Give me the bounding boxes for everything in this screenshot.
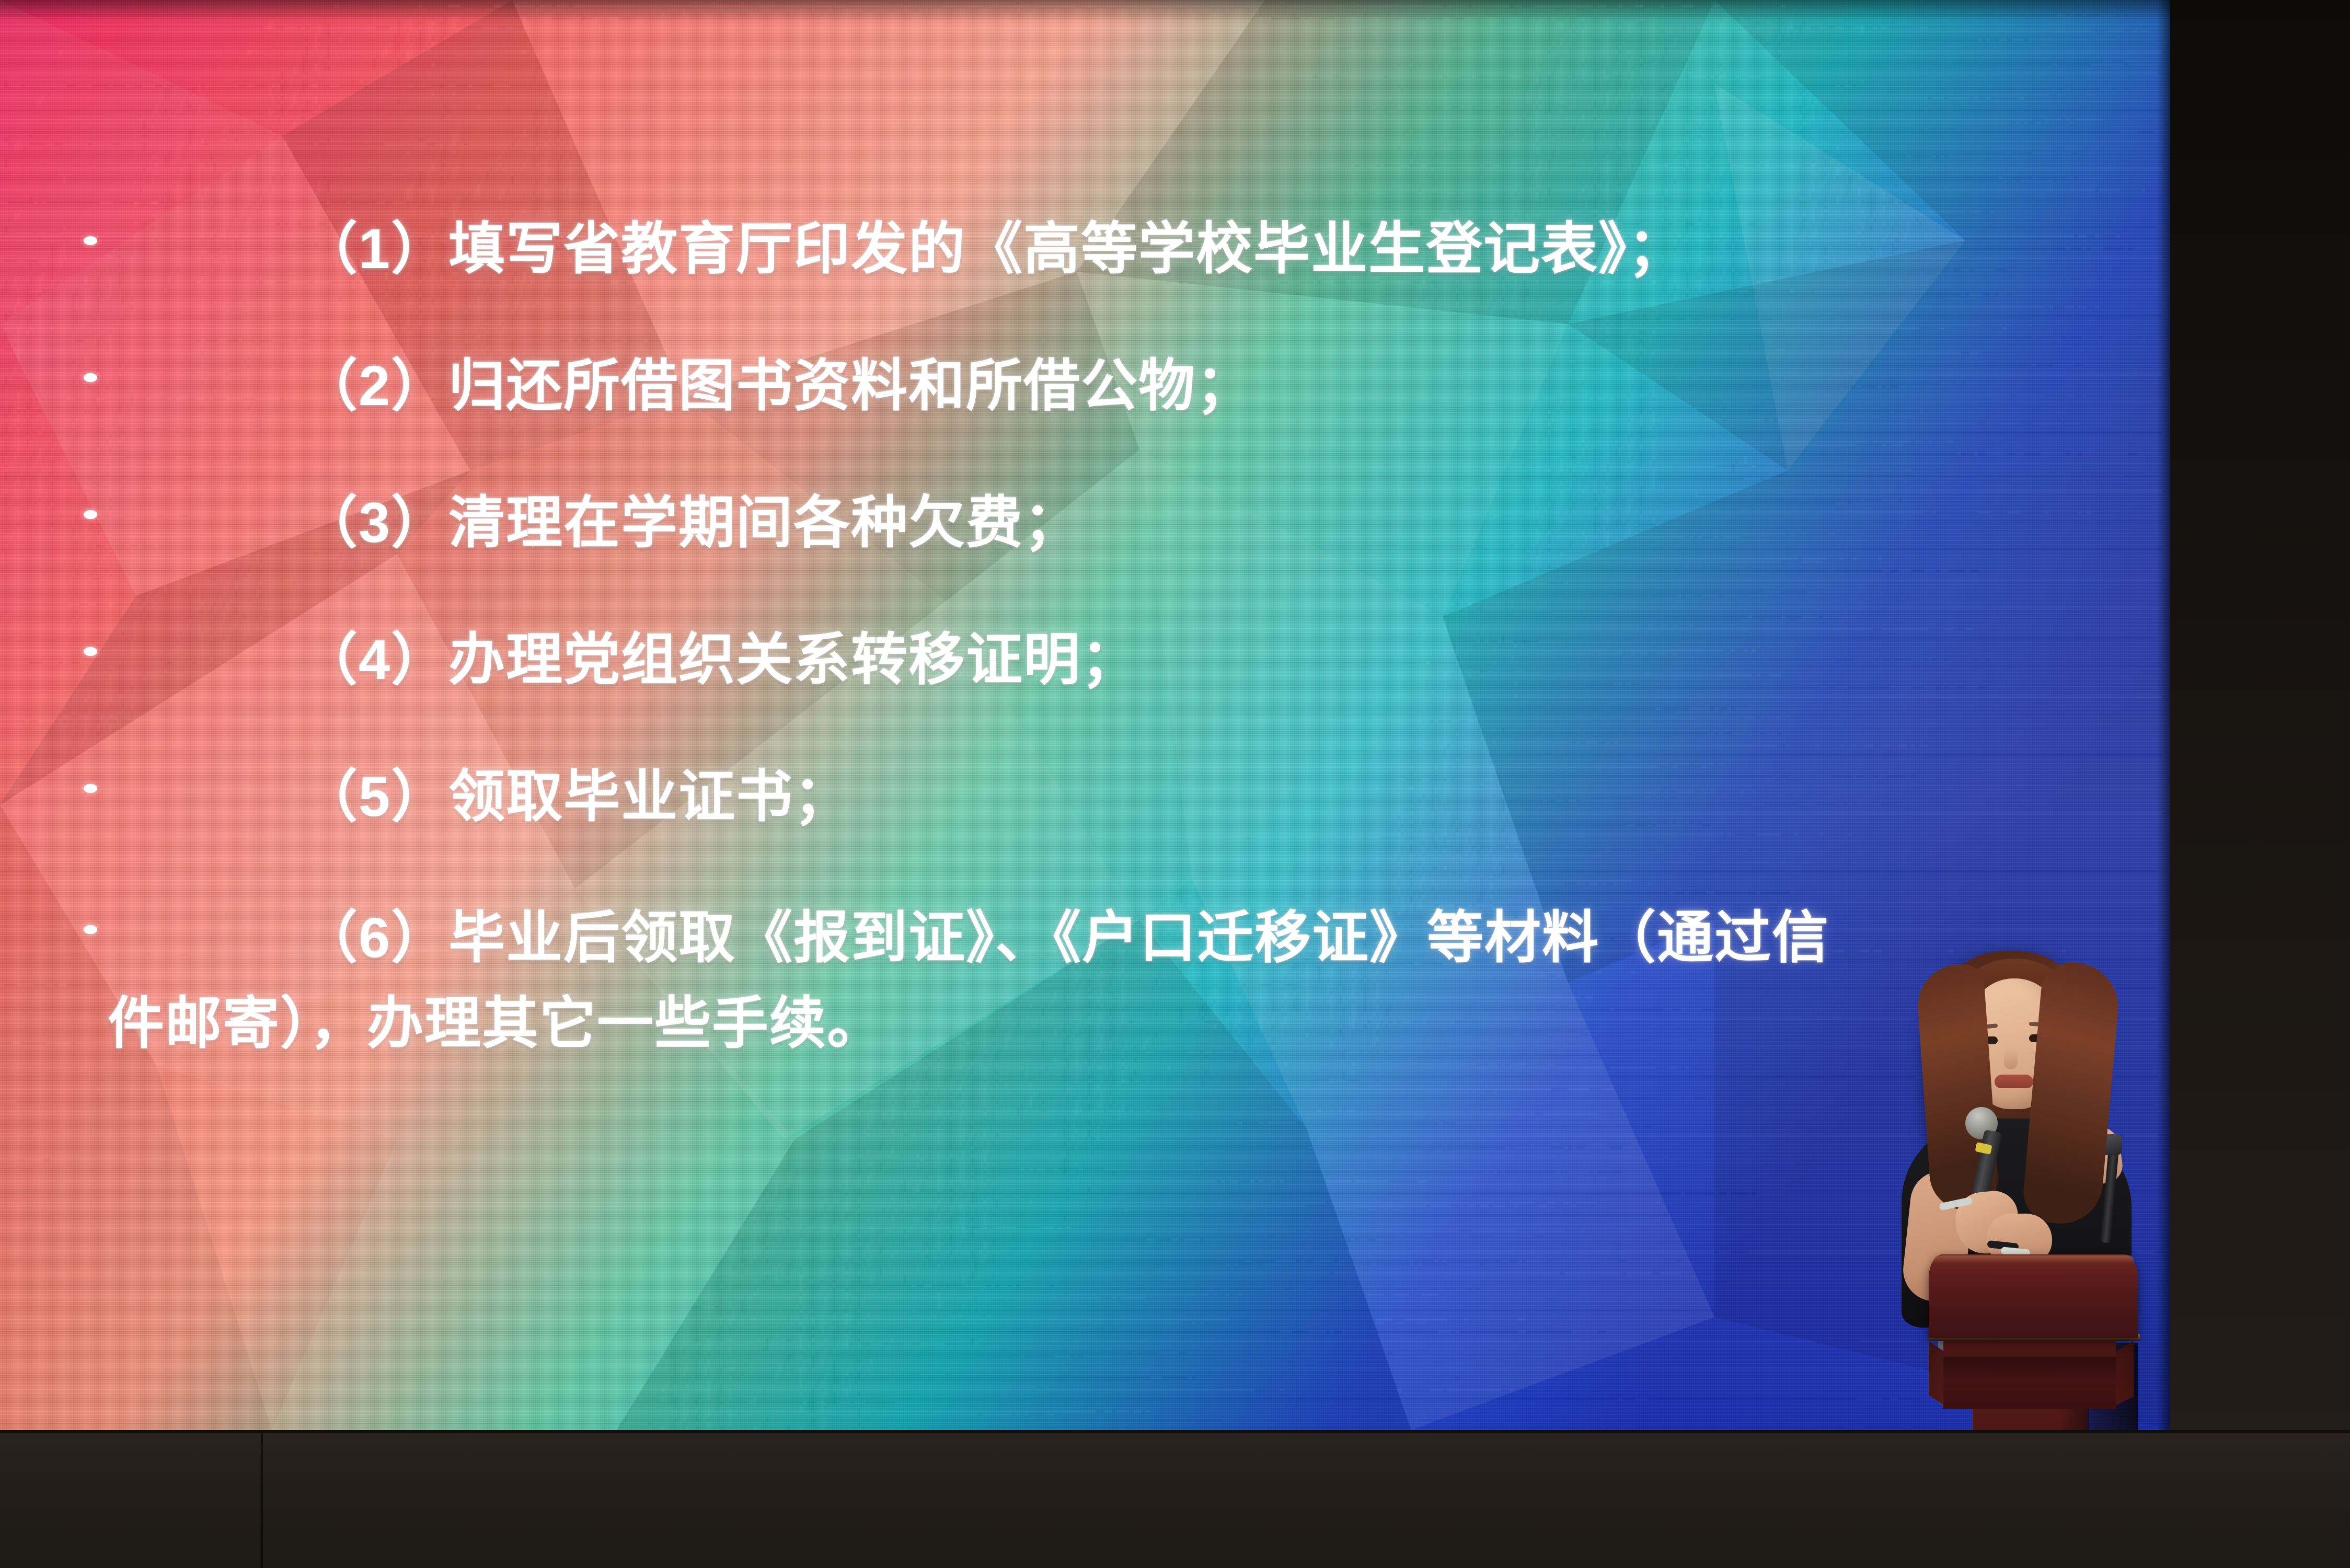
list-item: （1）填写省教育厅印发的《高等学校毕业生登记表》； — [84, 209, 1685, 289]
stage-floor — [0, 1430, 2350, 1568]
list-item: （4）办理党组织关系转移证明； — [84, 620, 1138, 699]
list-item: （2）归还所借图书资料和所借公物； — [84, 346, 1253, 425]
list-item: （3）清理在学期间各种欠费； — [84, 483, 1081, 562]
lectern-midsection-shading — [1943, 1357, 2116, 1382]
bullet-text: （5）领取毕业证书； — [301, 757, 851, 836]
photo-scene: （1）填写省教育厅印发的《高等学校毕业生登记表》； （2）归还所借图书资料和所借… — [0, 0, 2350, 1568]
bullet-text: （1）填写省教育厅印发的《高等学校毕业生登记表》； — [301, 209, 1685, 289]
lectern-top-highlight — [1932, 1255, 2135, 1264]
led-presentation-screen: （1）填写省教育厅印发的《高等学校毕业生登记表》； （2）归还所借图书资料和所借… — [0, 0, 2170, 1430]
bullet-text: （2）归还所借图书资料和所借公物； — [301, 346, 1253, 425]
stage-floor-seam — [0, 1430, 2350, 1433]
lectern-top-panel — [1929, 1254, 2138, 1338]
bullet-dot-icon — [84, 784, 97, 793]
stage-wall-right — [2169, 0, 2350, 1443]
speaker-mouth — [1995, 1075, 2033, 1088]
bullet-dot-icon — [84, 510, 97, 519]
bullet-text: （4）办理党组织关系转移证明； — [301, 620, 1138, 699]
bullet-text-line1: （6）毕业后领取《报到证》、《户口迁移证》等材料（通过信 — [301, 906, 1829, 969]
list-item: （6）毕业后领取《报到证》、《户口迁移证》等材料（通过信 件邮寄），办理其它一些… — [84, 898, 2110, 1063]
bullet-dot-icon — [84, 925, 97, 934]
bullet-text-line2: 件邮寄），办理其它一些手续。 — [108, 984, 2110, 1063]
slide-content: （1）填写省教育厅印发的《高等学校毕业生登记表》； （2）归还所借图书资料和所借… — [0, 0, 2170, 1430]
bullet-text: （3）清理在学期间各种欠费； — [301, 483, 1081, 562]
bullet-dot-icon — [84, 373, 97, 382]
stage-floor-panel-edge — [261, 1433, 263, 1568]
list-item: （5）领取毕业证书； — [84, 757, 851, 836]
speaker-nose — [2004, 1048, 2018, 1069]
bullet-dot-icon — [84, 647, 97, 656]
bullet-text: （6）毕业后领取《报到证》、《户口迁移证》等材料（通过信 件邮寄），办理其它一些… — [301, 898, 2110, 1063]
bullet-dot-icon — [84, 236, 97, 245]
